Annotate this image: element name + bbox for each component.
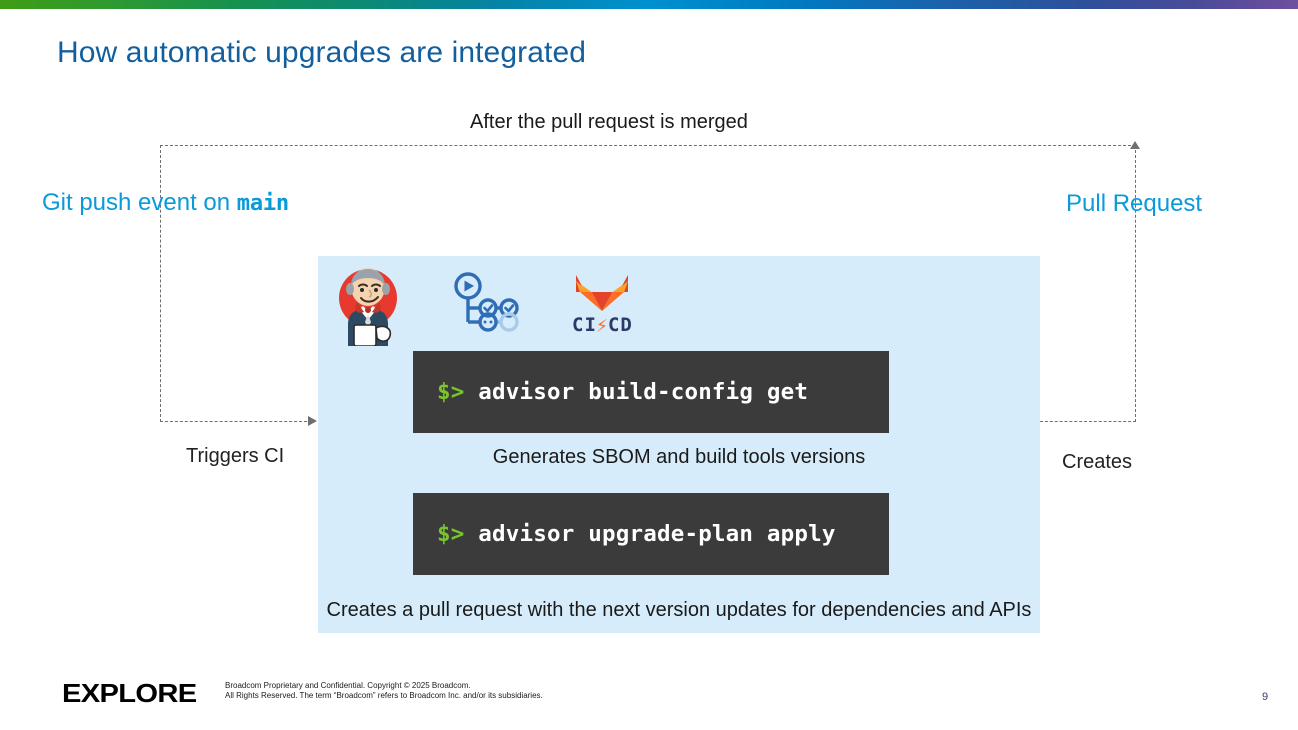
terminal-command: advisor upgrade-plan apply [478,521,835,547]
legal-notice: Broadcom Proprietary and Confidential. C… [225,681,543,701]
gitlab-cicd-logo: CI⚡CD [572,273,633,336]
gitlab-cicd-label: CI⚡CD [572,314,633,336]
connector-right-horizontal [1040,421,1136,422]
explore-logo: EXPLORE [62,678,196,709]
arrowhead-into-panel-icon [308,416,317,426]
caption-sbom: Generates SBOM and build tools versions [318,446,1040,469]
ci-pipeline-panel: CI⚡CD $> advisor build-config get Genera… [318,256,1040,633]
page-title: How automatic upgrades are integrated [57,36,586,70]
terminal-prompt: $> [437,521,465,547]
label-pull-request: Pull Request [1066,190,1202,218]
terminal-command-line: $> advisor upgrade-plan apply [437,521,836,547]
gitlab-cd-text: CD [608,314,633,336]
label-git-push-event: Git push event on main [42,189,289,217]
terminal-command: advisor build-config get [478,379,808,405]
legal-line-2: All Rights Reserved. The term “Broadcom”… [225,691,543,701]
top-gradient-bar [0,0,1298,9]
ci-tool-logos: CI⚡CD [332,262,633,346]
label-triggers-ci: Triggers CI [186,445,284,468]
connector-top-horizontal [160,145,1136,146]
connector-right-vertical [1135,145,1136,422]
label-branch-name: main [237,191,289,216]
label-after-merge: After the pull request is merged [470,111,748,134]
terminal-prompt: $> [437,379,465,405]
github-actions-logo [452,272,524,336]
connector-left-horizontal [160,421,312,422]
label-creates: Creates [1062,451,1132,474]
page-number: 9 [1262,691,1268,703]
terminal-upgrade-plan[interactable]: $> advisor upgrade-plan apply [413,493,889,575]
legal-line-1: Broadcom Proprietary and Confidential. C… [225,681,543,691]
terminal-build-config[interactable]: $> advisor build-config get [413,351,889,433]
connector-left-vertical [160,145,161,422]
arrowhead-to-pull-request-icon [1130,141,1140,149]
caption-pull-request: Creates a pull request with the next ver… [318,599,1040,622]
gitlab-ci-text: CI [572,314,597,336]
terminal-command-line: $> advisor build-config get [437,379,808,405]
label-git-push-prefix: Git push event on [42,189,237,216]
jenkins-logo [332,262,404,346]
